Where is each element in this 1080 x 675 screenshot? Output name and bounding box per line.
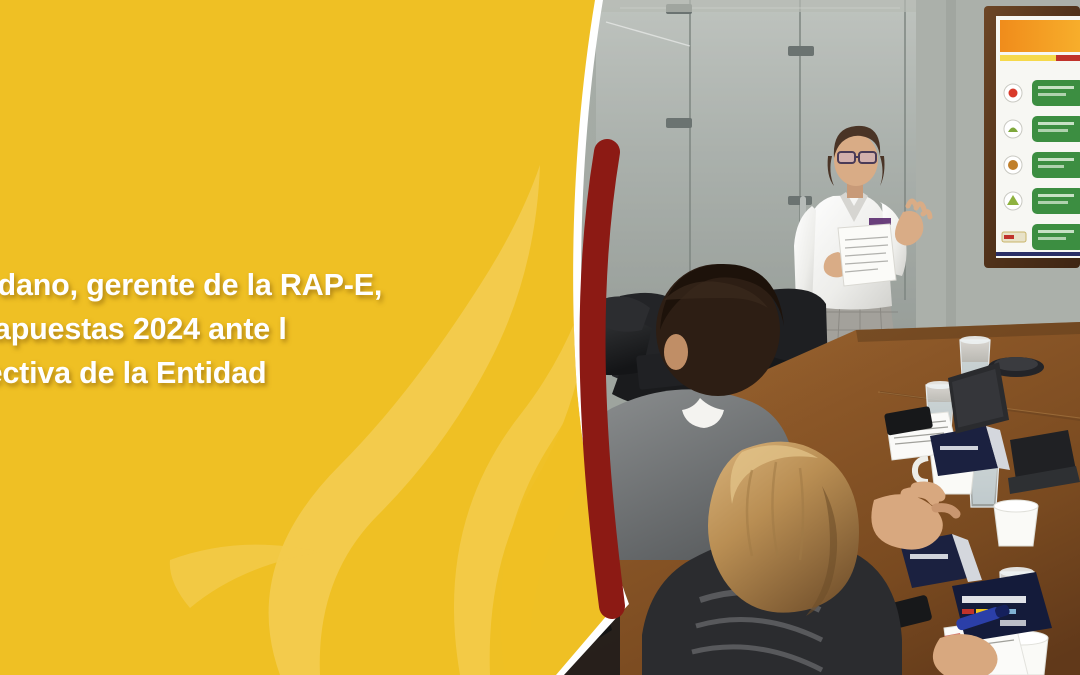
banner-root: udelo Sedano, gerente de la RAP-E, entó … bbox=[0, 0, 1080, 675]
panel-diagonal-edge bbox=[490, 560, 650, 675]
